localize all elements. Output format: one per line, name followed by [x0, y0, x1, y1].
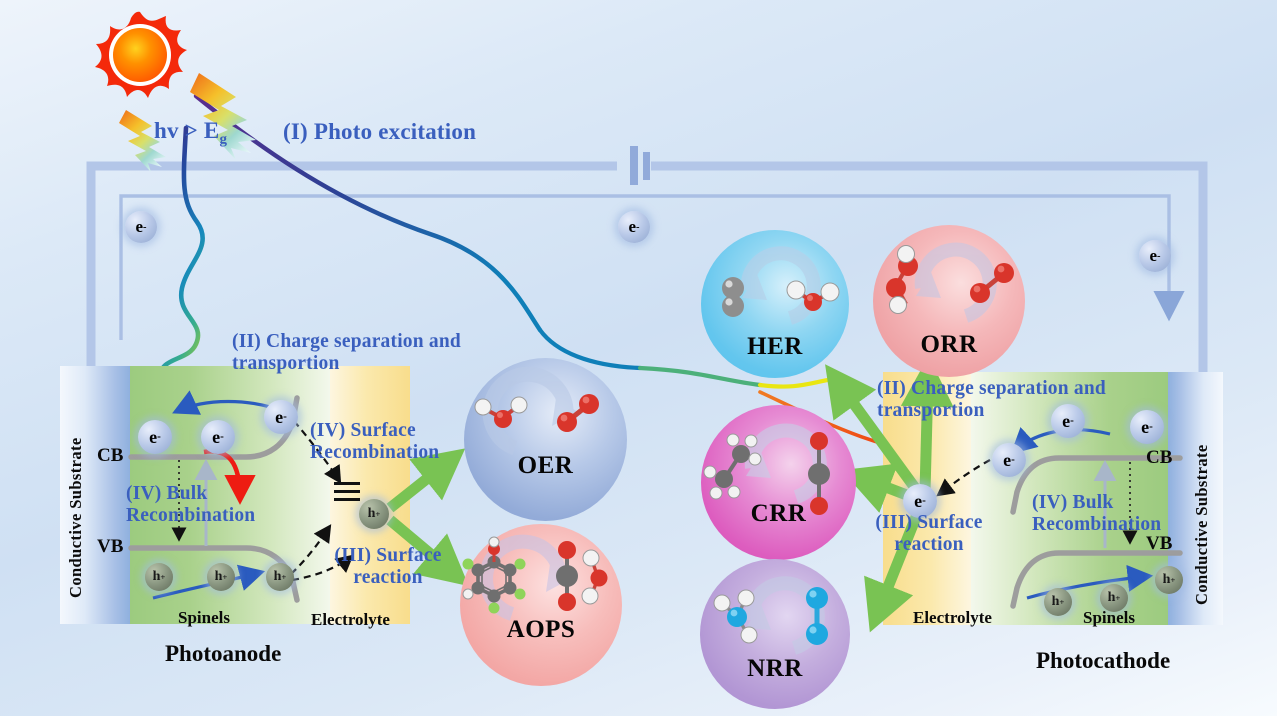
reaction-label-her: HER [701, 333, 849, 361]
photoanode-electrolyte-label: Electrolyte [311, 610, 390, 630]
photocathode-step3-label: (III) Surface reaction [861, 512, 997, 556]
photocathode-substrate-label: Conductive Substrate [1192, 400, 1212, 605]
reaction-label-crr: CRR [701, 500, 856, 528]
sun-icon [95, 12, 187, 98]
photoanode-hole-1: h+ [145, 563, 173, 591]
circuit-electron-marker-1: e- [125, 211, 157, 243]
photocathode-bulk-recombination-label: (IV) Bulk Recombination [1032, 492, 1192, 536]
photoanode-hole-3: h+ [266, 563, 294, 591]
photocathode-spinels-label: Spinels [1083, 608, 1135, 628]
circuit-electron-marker-3: e- [1139, 240, 1171, 272]
photoanode-step3-label: (III) Surface reaction [318, 545, 458, 589]
photoanode-electron-2: e- [201, 420, 235, 454]
photoanode-vb-label: VB [97, 536, 123, 558]
reaction-sphere-aops [460, 524, 622, 686]
photocathode-electron-3: e- [992, 443, 1026, 477]
photoanode-surface-states-icon [334, 482, 360, 506]
photocathode-electrolyte-label: Electrolyte [913, 608, 992, 628]
reaction-label-oer: OER [464, 452, 627, 480]
photoanode-name-label: Photoanode [165, 641, 281, 667]
reaction-label-aops: AOPS [460, 616, 622, 644]
photoanode-bulk-recombination-label: (IV) Bulk Recombination [126, 483, 294, 527]
battery-icon [630, 146, 650, 185]
photocathode-cb-label: CB [1146, 447, 1172, 469]
reaction-sphere-crr [701, 405, 856, 560]
reaction-label-orr: ORR [873, 331, 1025, 359]
photocathode-hole-1: h+ [1044, 588, 1072, 616]
circuit-electron-marker-2: e- [618, 211, 650, 243]
photoanode-spinels-label: Spinels [178, 608, 230, 628]
photoanode-hole-2: h+ [207, 563, 235, 591]
diagram-canvas: hv > Eg (I) Photo excitation e- e- e- Co… [0, 0, 1277, 716]
photoanode-surface-recombination-label: (IV) Surface Recombination [310, 420, 462, 464]
photon-energy-label: hv > Eg [154, 118, 227, 148]
photocathode-vb-label: VB [1146, 533, 1172, 555]
photoanode-electron-3: e- [264, 400, 298, 434]
charge-transport-curve-yellow [760, 378, 840, 387]
photocathode-step2-label: (II) Charge separation and transportion [877, 378, 1147, 422]
photoanode-substrate-label: Conductive Substrate [66, 398, 86, 598]
photoanode-step2-label: (II) Charge separation and transportion [232, 331, 494, 375]
photocathode-name-label: Photocathode [1036, 648, 1170, 674]
photoanode-cb-label: CB [97, 445, 123, 467]
photocathode-hole-3: h+ [1155, 566, 1183, 594]
inner-circuit-wire-left [121, 196, 640, 340]
reaction-sphere-oer [464, 358, 627, 521]
photoanode-surface-hole: h+ [359, 499, 389, 529]
photoanode-electron-1: e- [138, 420, 172, 454]
reaction-sphere-nrr [700, 559, 850, 709]
step1-photo-excitation-label: (I) Photo excitation [283, 119, 476, 145]
reaction-label-nrr: NRR [700, 655, 850, 683]
